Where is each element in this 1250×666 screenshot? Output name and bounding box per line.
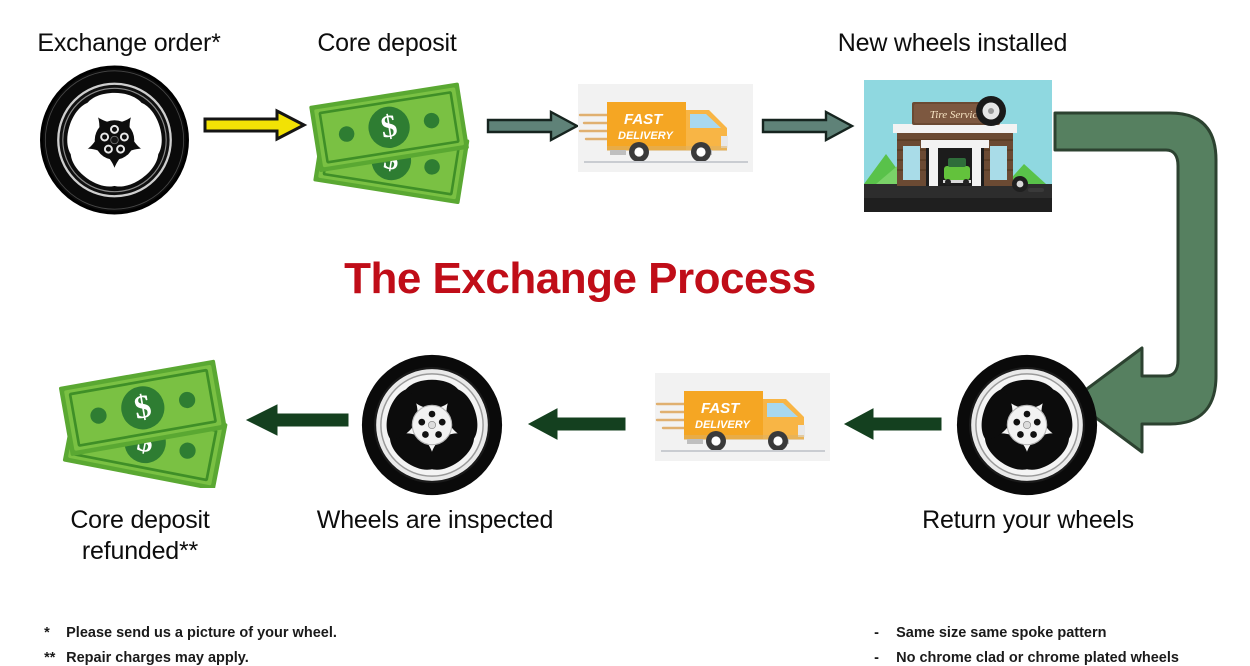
arrow-truck-to-inspected (527, 407, 627, 441)
step-label-return-your-wheels: Return your wheels (888, 505, 1168, 536)
footnote-text: Repair charges may apply. (66, 650, 249, 666)
arrow-deposit-to-truck (487, 110, 579, 142)
money-banknotes-icon: $ $ (306, 74, 478, 204)
footnote-marker: ** (44, 646, 66, 666)
footnote-marker: - (874, 646, 896, 666)
step-label-wheels-inspected: Wheels are inspected (290, 505, 580, 536)
wheel-silver-rim-icon-return (953, 352, 1101, 498)
tire-service-shop-icon: Tire Service (864, 80, 1052, 212)
page-title: The Exchange Process (0, 254, 1160, 304)
footnote-text: No chrome clad or chrome plated wheels (896, 650, 1179, 666)
arrow-truck-to-shop (762, 110, 854, 142)
arrow-order-to-deposit (203, 108, 308, 142)
shop-sign-text: Tire Service (930, 109, 983, 121)
footnote-left-2: **Repair charges may apply. (28, 621, 249, 666)
truck-text-delivery: DELIVERY (618, 130, 674, 142)
truck-text-fast: FAST (624, 111, 664, 128)
step-label-exchange-order: Exchange order* (0, 28, 258, 59)
delivery-truck-icon: FAST DELIVERY (578, 84, 753, 172)
exchange-process-infographic: Exchange order* Core deposit New wheels … (0, 0, 1250, 666)
footnote-right-2: -No chrome clad or chrome plated wheels (858, 621, 1179, 666)
arrow-inspected-to-refund (245, 403, 350, 437)
money-banknotes-icon-refund: $ $ (56, 352, 236, 488)
delivery-truck-icon-return: FAST DELIVERY (655, 373, 830, 461)
truck-text-delivery-2: DELIVERY (695, 419, 751, 431)
step-label-new-wheels-installed: New wheels installed (805, 28, 1100, 59)
step-label-core-deposit: Core deposit (288, 28, 486, 59)
step-label-core-deposit-refunded: Core deposit refunded** (34, 505, 246, 567)
arrow-return-to-truck (843, 407, 943, 441)
wheel-black-rim-icon (37, 64, 192, 216)
wheel-silver-rim-icon-inspected (358, 352, 506, 498)
truck-text-fast-2: FAST (701, 400, 741, 417)
